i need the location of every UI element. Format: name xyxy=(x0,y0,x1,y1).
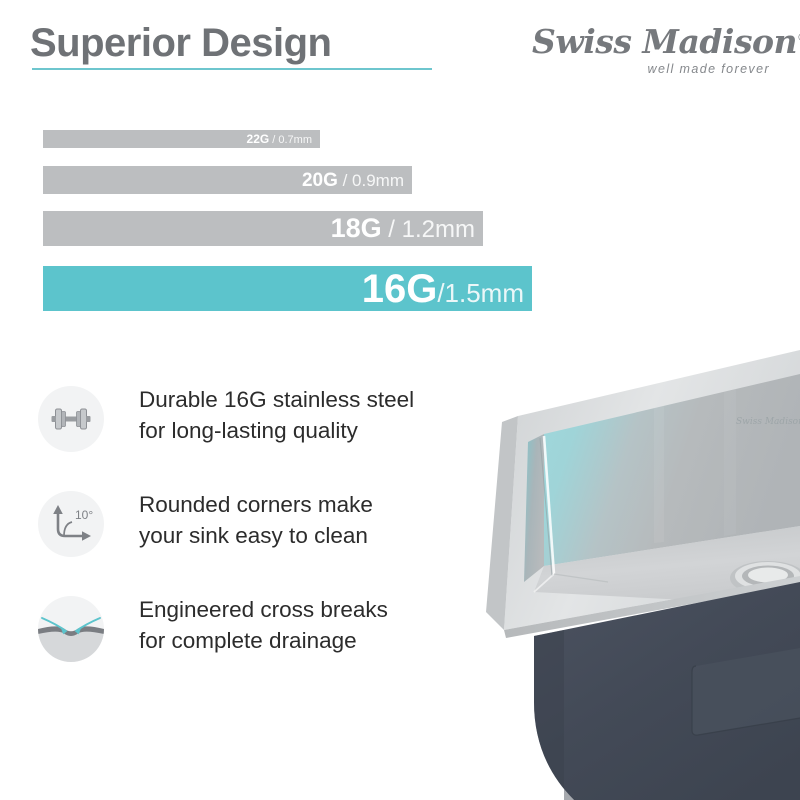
feature-text-line1: Engineered cross breaks xyxy=(139,594,479,625)
gauge-bar-row: 20G / 0.9mm xyxy=(43,166,412,194)
feature-text-line2: your sink easy to clean xyxy=(139,520,479,551)
gauge-bar-row: 16G/1.5mm xyxy=(43,266,532,311)
product-feature-page: Superior Design Swiss Madison® well made… xyxy=(0,0,800,800)
gauge-bar-22g: 22G / 0.7mm xyxy=(43,130,320,148)
feature-text: Durable 16G stainless steel for long-las… xyxy=(139,384,479,446)
list-item: 10° Rounded corners make your sink easy … xyxy=(38,483,478,583)
svg-text:10°: 10° xyxy=(75,508,93,522)
cross-breaks-drainage-icon xyxy=(38,596,104,662)
feature-text: Rounded corners make your sink easy to c… xyxy=(139,489,479,551)
brand-tagline: well made forever xyxy=(580,62,770,76)
gauge-value: 16G xyxy=(362,267,438,311)
product-image-sink: Swiss Madison xyxy=(478,330,800,800)
gauge-separator: / xyxy=(382,216,402,243)
gauge-separator: / xyxy=(338,171,352,190)
gauge-thickness: 1.2mm xyxy=(402,216,475,243)
gauge-comparison-chart: 22G / 0.7mm 20G / 0.9mm 18G / 1.2mm 16G/… xyxy=(0,118,560,323)
svg-text:Swiss Madison: Swiss Madison xyxy=(736,417,800,427)
gauge-bar-label: 18G / 1.2mm xyxy=(331,215,475,242)
feature-list: Durable 16G stainless steel for long-las… xyxy=(0,370,480,690)
rounded-corner-angle-icon: 10° xyxy=(38,491,104,557)
gauge-value: 22G xyxy=(247,132,270,146)
title-underline xyxy=(32,68,432,70)
page-header: Superior Design Swiss Madison® well made… xyxy=(0,0,800,100)
brand-wordmark: Swiss Madison® xyxy=(532,22,772,64)
gauge-thickness: 0.7mm xyxy=(278,134,312,146)
gauge-bar-row: 18G / 1.2mm xyxy=(43,211,483,246)
feature-text-line1: Rounded corners make xyxy=(139,489,479,520)
dumbbell-icon xyxy=(38,386,104,452)
gauge-bar-18g: 18G / 1.2mm xyxy=(43,211,483,246)
gauge-thickness: 0.9mm xyxy=(352,171,404,190)
list-item: Engineered cross breaks for complete dra… xyxy=(38,588,478,688)
gauge-bar-row: 22G / 0.7mm xyxy=(43,130,320,148)
gauge-separator: / xyxy=(269,134,278,146)
gauge-value: 20G xyxy=(302,170,338,191)
feature-text: Engineered cross breaks for complete dra… xyxy=(139,594,479,656)
gauge-bar-20g: 20G / 0.9mm xyxy=(43,166,412,194)
gauge-bar-label: 16G/1.5mm xyxy=(362,269,524,309)
gauge-value: 18G xyxy=(331,213,382,243)
feature-text-line2: for complete drainage xyxy=(139,625,479,656)
gauge-thickness: /1.5mm xyxy=(437,278,524,308)
gauge-bar-label: 20G / 0.9mm xyxy=(302,171,404,190)
brand-name: Swiss Madison xyxy=(532,22,797,61)
list-item: Durable 16G stainless steel for long-las… xyxy=(38,378,478,478)
feature-text-line1: Durable 16G stainless steel xyxy=(139,384,479,415)
brand-logo: Swiss Madison® well made forever xyxy=(532,22,772,84)
feature-text-line2: for long-lasting quality xyxy=(139,415,479,446)
gauge-bar-16g: 16G/1.5mm xyxy=(43,266,532,311)
page-title: Superior Design xyxy=(30,20,331,66)
gauge-bar-label: 22G / 0.7mm xyxy=(247,131,312,147)
